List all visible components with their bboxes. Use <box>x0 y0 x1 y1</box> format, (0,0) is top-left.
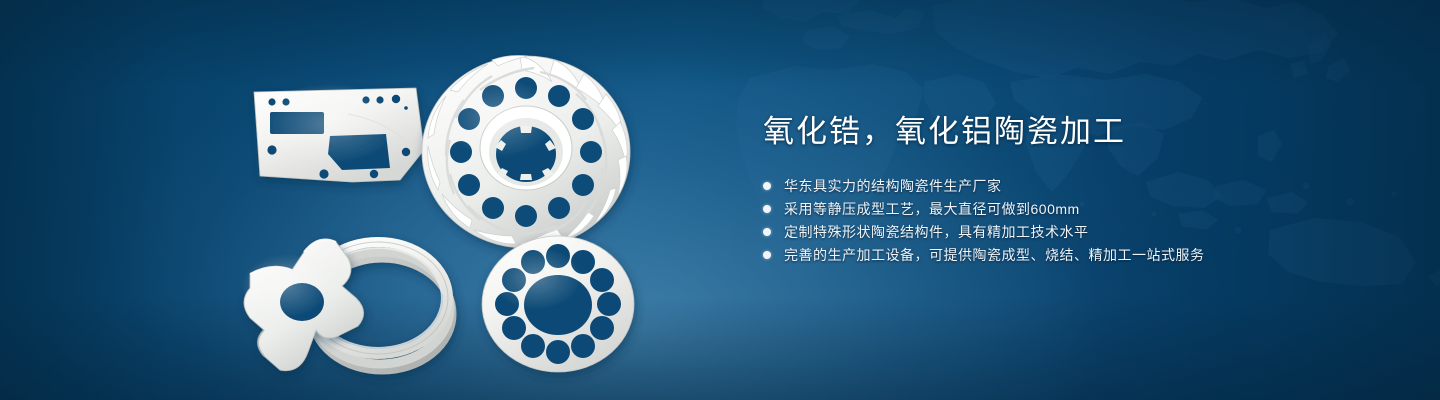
ceramic-impeller-disc <box>422 56 630 249</box>
feature-text: 华东具实力的结构陶瓷件生产厂家 <box>784 176 1002 196</box>
feature-text: 完善的生产加工设备，可提供陶瓷成型、烧结、精加工一站式服务 <box>784 245 1205 265</box>
list-item: 华东具实力的结构陶瓷件生产厂家 <box>763 174 1363 197</box>
page-title: 氧化锆，氧化铝陶瓷加工 <box>763 112 1363 152</box>
bullet-dot-icon <box>763 251 771 259</box>
bullet-dot-icon <box>763 205 771 213</box>
list-item: 定制特殊形状陶瓷结构件，具有精加工技术水平 <box>763 220 1363 243</box>
banner-copy: 氧化锆，氧化铝陶瓷加工 华东具实力的结构陶瓷件生产厂家 采用等静压成型工艺，最大… <box>763 112 1363 266</box>
list-item: 采用等静压成型工艺，最大直径可做到600mm <box>763 197 1363 220</box>
ceramic-product-banner: 氧化锆，氧化铝陶瓷加工 华东具实力的结构陶瓷件生产厂家 采用等静压成型工艺，最大… <box>0 0 1440 400</box>
bullet-dot-icon <box>763 228 771 236</box>
list-item: 完善的生产加工设备，可提供陶瓷成型、烧结、精加工一站式服务 <box>763 243 1363 266</box>
feature-list: 华东具实力的结构陶瓷件生产厂家 采用等静压成型工艺，最大直径可做到600mm 定… <box>763 174 1363 266</box>
feature-text: 定制特殊形状陶瓷结构件，具有精加工技术水平 <box>784 222 1089 242</box>
feature-text: 采用等静压成型工艺，最大直径可做到600mm <box>784 199 1080 219</box>
bullet-dot-icon <box>763 182 771 190</box>
ceramic-products-image <box>230 40 720 380</box>
ceramic-perforated-ring <box>482 236 634 372</box>
ceramic-plate-with-cutouts <box>254 84 424 182</box>
